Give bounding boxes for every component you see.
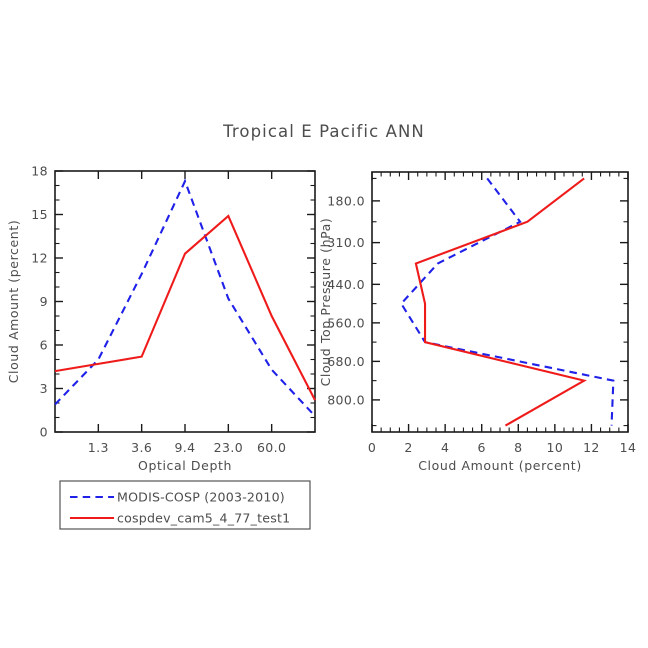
right-series-2 [416, 178, 584, 425]
right-x-tick-label: 10 [546, 440, 563, 455]
left-y-axis-label: Cloud Amount (percent) [6, 220, 21, 384]
left-y-tick-label: 9 [40, 294, 48, 309]
left-y-tick-label: 3 [40, 381, 48, 396]
right-series-1 [401, 178, 613, 425]
right-x-tick-label: 14 [620, 440, 637, 455]
left-y-tick-label: 18 [31, 164, 48, 179]
right-y-tick-label: 180.0 [327, 193, 365, 208]
left-x-tick-label: 60.0 [257, 440, 286, 455]
right-x-tick-label: 8 [514, 440, 522, 455]
right-x-tick-label: 12 [583, 440, 600, 455]
right-x-tick-label: 0 [368, 440, 376, 455]
figure-title: Tropical E Pacific ANN [0, 122, 648, 141]
left-x-tick-label: 1.3 [88, 440, 109, 455]
left-x-tick-label: 23.0 [214, 440, 243, 455]
legend-label-1: MODIS-COSP (2003-2010) [117, 490, 285, 505]
left-series-2 [55, 216, 315, 400]
left-y-tick-label: 0 [40, 425, 48, 440]
left-plot-frame [55, 171, 315, 432]
left-x-tick-label: 9.4 [174, 440, 195, 455]
legend-label-2: cospdev_cam5_4_77_test1 [117, 511, 290, 526]
left-x-axis-label: Optical Depth [138, 458, 232, 473]
left-y-tick-label: 6 [40, 338, 48, 353]
right-x-tick-label: 6 [478, 440, 486, 455]
left-y-tick-label: 15 [31, 207, 48, 222]
right-y-axis-label: Cloud Top Pressure (hPa) [318, 218, 333, 387]
plot-canvas: 03691215181.33.69.423.060.0Optical Depth… [0, 0, 648, 648]
right-x-tick-label: 2 [404, 440, 412, 455]
right-x-axis-label: Cloud Amount (percent) [418, 458, 582, 473]
right-plot-frame [372, 172, 628, 432]
left-y-tick-label: 12 [31, 251, 48, 266]
right-y-tick-label: 800.0 [327, 392, 365, 407]
left-series-1 [55, 181, 315, 416]
left-x-tick-label: 3.6 [131, 440, 152, 455]
right-x-tick-label: 4 [441, 440, 449, 455]
